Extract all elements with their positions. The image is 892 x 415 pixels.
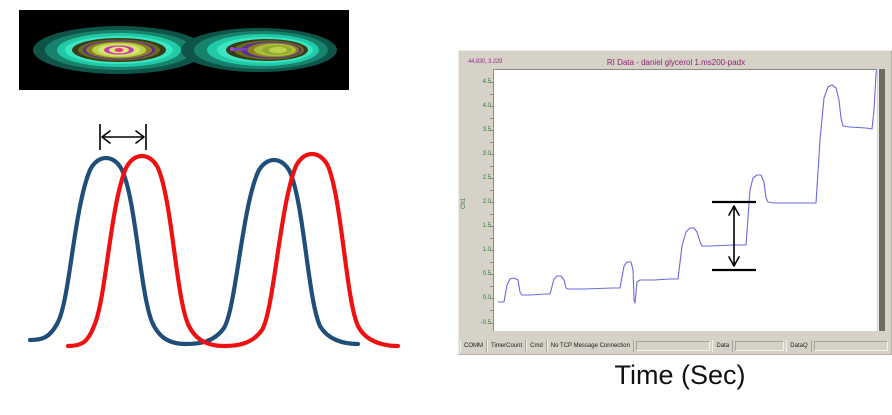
peaks-svg — [28, 112, 418, 357]
status-cmd-label: Cmd — [526, 340, 547, 352]
status-connection: No TCP Message Connection — [547, 340, 634, 352]
vertical-scrollbar[interactable] — [878, 69, 885, 331]
shift-arrow — [100, 124, 146, 150]
status-bar: COMM TimerCount Cmd No TCP Message Conne… — [460, 340, 890, 352]
two-lobe-contour-map — [19, 10, 349, 90]
peak-curve-shifted — [68, 154, 398, 346]
status-comm: COMM — [460, 340, 487, 352]
step-height-arrow — [712, 202, 756, 270]
x-axis-title: Time (Sec) — [570, 360, 790, 391]
contour-lobe-right — [181, 28, 337, 72]
contour-map-svg — [19, 10, 349, 90]
channel-label: Ch1 — [461, 198, 467, 209]
plot-canvas[interactable] — [493, 69, 877, 331]
status-dataq-field[interactable] — [814, 341, 888, 351]
contour-lobe-left — [33, 26, 205, 74]
status-cmd-field[interactable] — [636, 341, 710, 351]
peak-curve-reference — [30, 158, 358, 344]
instrument-chart-window: 44.830, 3.229 RI Data - daniel glycerol … — [458, 50, 892, 355]
trace-svg — [494, 70, 877, 331]
status-data-label: Data — [712, 340, 733, 352]
left-figure-column — [0, 0, 420, 415]
status-dataq-label: DataQ — [786, 340, 811, 352]
gaussian-peak-pairs — [28, 112, 418, 357]
signal-trace — [498, 70, 877, 303]
right-figure-column: Pixels Time (Sec) 44.830, 3.229 RI Data … — [420, 0, 892, 415]
chart-title: RI Data - daniel glycerol 1.ms200-padx — [459, 58, 892, 67]
status-timer-label: TimerCount — [487, 340, 526, 352]
status-data-field[interactable] — [735, 341, 784, 351]
